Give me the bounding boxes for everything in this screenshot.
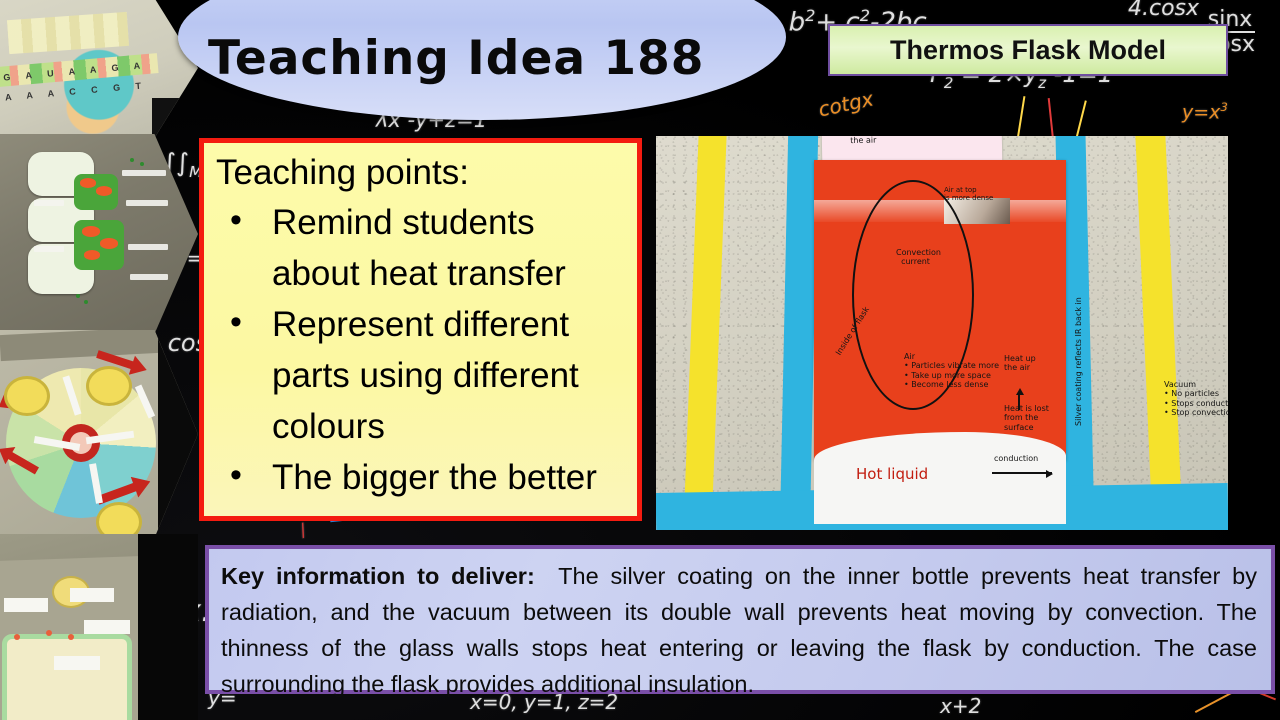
poster-label [130,274,168,280]
annotation-hot-liquid: Hot liquid [856,466,928,484]
page-title: Teaching Idea 188 [208,24,728,94]
teaching-points-panel: Teaching points: Remind students about h… [199,138,642,521]
thumbnail-shadow [152,98,198,138]
mitochondrion [100,238,118,249]
poster-label [70,588,114,602]
mitochondrion [84,250,100,260]
badge-label: Thermos Flask Model [890,35,1166,66]
thumbnail-strip: G A U A A G A A A A C C G T [0,0,200,720]
key-information-panel: Key information to deliver: The silver c… [205,545,1275,694]
chalk-formula-3: y=x3 [1182,100,1228,123]
annotation-heat-up-the-air: Heat up the air [1004,354,1036,373]
chalk-stroke-yellow-2 [1075,100,1087,139]
thermos-flask-model-photo: - stops convection into the air Air at t… [656,136,1228,530]
chalk-mark-red: / [297,520,310,542]
chalk-stroke-yellow [1017,96,1026,140]
list-item: The bigger the better [216,452,627,503]
thumbnail-plant-cell-posters[interactable] [0,134,198,334]
status-badge: Thermos Flask Model [828,24,1228,76]
leaf-diagram [2,634,132,720]
mitochondrion [96,186,112,196]
poster-label [126,200,168,206]
thumbnail-shadow [138,534,198,720]
mitochondrion [82,226,100,237]
pin-dot [68,634,74,640]
annotation-air-particles: Air • Particles vibrate more • Take up m… [904,352,999,390]
annotation-air-at-top: Air at top is more dense [944,186,993,203]
poster-label [34,246,64,252]
pin-dot [46,630,52,636]
poster-label [128,244,168,250]
teaching-points-list: Remind students about heat transfer Repr… [216,197,627,503]
wheel-coin [96,502,142,538]
poster-label [54,656,100,670]
poster-label [84,620,130,634]
wheel-coin [86,366,132,406]
green-dot [76,294,80,298]
thumbnail-photosynthesis-poster[interactable] [0,534,198,720]
annotation-silver-coating: Silver coating reflects IR back in [1074,297,1083,426]
thumbnail-dna-base-sequence-model[interactable]: G A U A A G A A A A C C G T [0,0,198,138]
slide-canvas: 2= b2+ c2-2bc F2 = 2×yz -1=1 cotgx y=x3 … [0,0,1280,720]
key-information-label: Key information to deliver: [221,563,535,589]
list-item: Represent different parts using differen… [216,299,627,452]
pin-dot [14,634,20,640]
thumbnail-shadow [158,330,198,538]
chalk-formula-12: 4.cosx [1128,0,1199,21]
teaching-points-heading: Teaching points: [216,151,627,195]
chalk-formula-2: cotgx [816,86,875,121]
annotation-conduction: conduction [994,454,1038,463]
hot-liquid-layer [814,432,1066,524]
annotation-heat-is-lost: Heat is lost from the surface [1004,404,1049,432]
conduction-arrow-icon [992,472,1052,474]
green-dot [140,162,144,166]
list-item: Remind students about heat transfer [216,197,627,299]
annotation-convection-current: Convection current [896,248,941,267]
mitochondrion [80,178,96,188]
poster-label [34,200,64,206]
green-dot [130,158,134,162]
wheel-coin [4,376,50,416]
poster-label [4,598,48,612]
annotation-vacuum-list: Vacuum • No particles • Stops conduction… [1164,380,1228,418]
green-dot [84,300,88,304]
key-information-text: Key information to deliver: The silver c… [221,558,1257,702]
poster-label [122,170,166,176]
thumbnail-circular-process-wheel[interactable] [0,330,198,538]
pink-note-text: - stops convection into the air [830,136,921,146]
